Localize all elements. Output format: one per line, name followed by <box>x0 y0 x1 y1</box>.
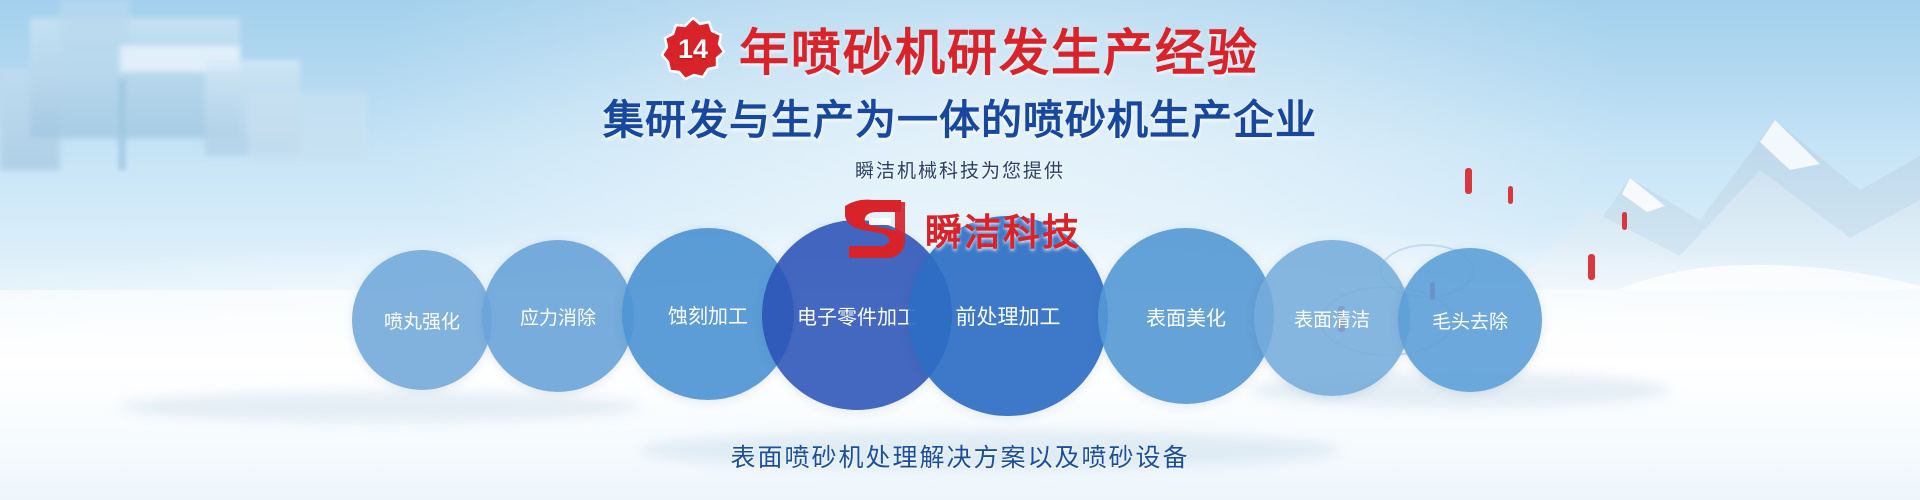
brand-logo-text: 瞬洁科技 <box>925 202 1081 256</box>
service-circle-label: 表面清洁 <box>1294 305 1370 332</box>
headline-blue-text: 集研发与生产为一体的喷砂机生产企业 <box>0 86 1920 146</box>
brand-logo: 瞬洁科技 <box>839 196 1081 262</box>
service-circle-label: 蚀刻加工 <box>668 300 748 329</box>
service-circle-label: 前处理加工 <box>956 301 1061 331</box>
sj-monogram-icon <box>839 196 913 262</box>
headline-block: 14 年喷砂机研发生产经验 集研发与生产为一体的喷砂机生产企业 瞬洁机械科技为您… <box>0 16 1920 183</box>
service-circle-label: 毛头去除 <box>1432 307 1508 334</box>
headline-red-text: 年喷砂机研发生产经验 <box>739 13 1259 85</box>
service-circle[interactable]: 表面美化 <box>1098 228 1274 404</box>
years-badge: 14 <box>661 17 725 81</box>
service-circle-label: 电子零件加工 <box>797 301 917 330</box>
service-circle-label: 喷丸强化 <box>384 307 460 334</box>
subheadline-text: 瞬洁机械科技为您提供 <box>0 156 1920 183</box>
service-circle[interactable]: 应力消除 <box>482 240 634 392</box>
service-circle-label: 表面美化 <box>1146 302 1226 331</box>
service-circle[interactable]: 喷丸强化 <box>352 250 492 390</box>
service-circle[interactable]: 毛头去除 <box>1398 248 1542 392</box>
years-badge-number: 14 <box>661 17 725 81</box>
service-circle-label: 应力消除 <box>520 303 596 330</box>
service-circle[interactable]: 表面清洁 <box>1254 240 1410 396</box>
promo-banner: 14 年喷砂机研发生产经验 集研发与生产为一体的喷砂机生产企业 瞬洁机械科技为您… <box>0 0 1920 500</box>
footer-tagline: 表面喷砂机处理解决方案以及喷砂设备 <box>0 438 1920 474</box>
headline-red-line: 14 年喷砂机研发生产经验 <box>0 16 1920 82</box>
